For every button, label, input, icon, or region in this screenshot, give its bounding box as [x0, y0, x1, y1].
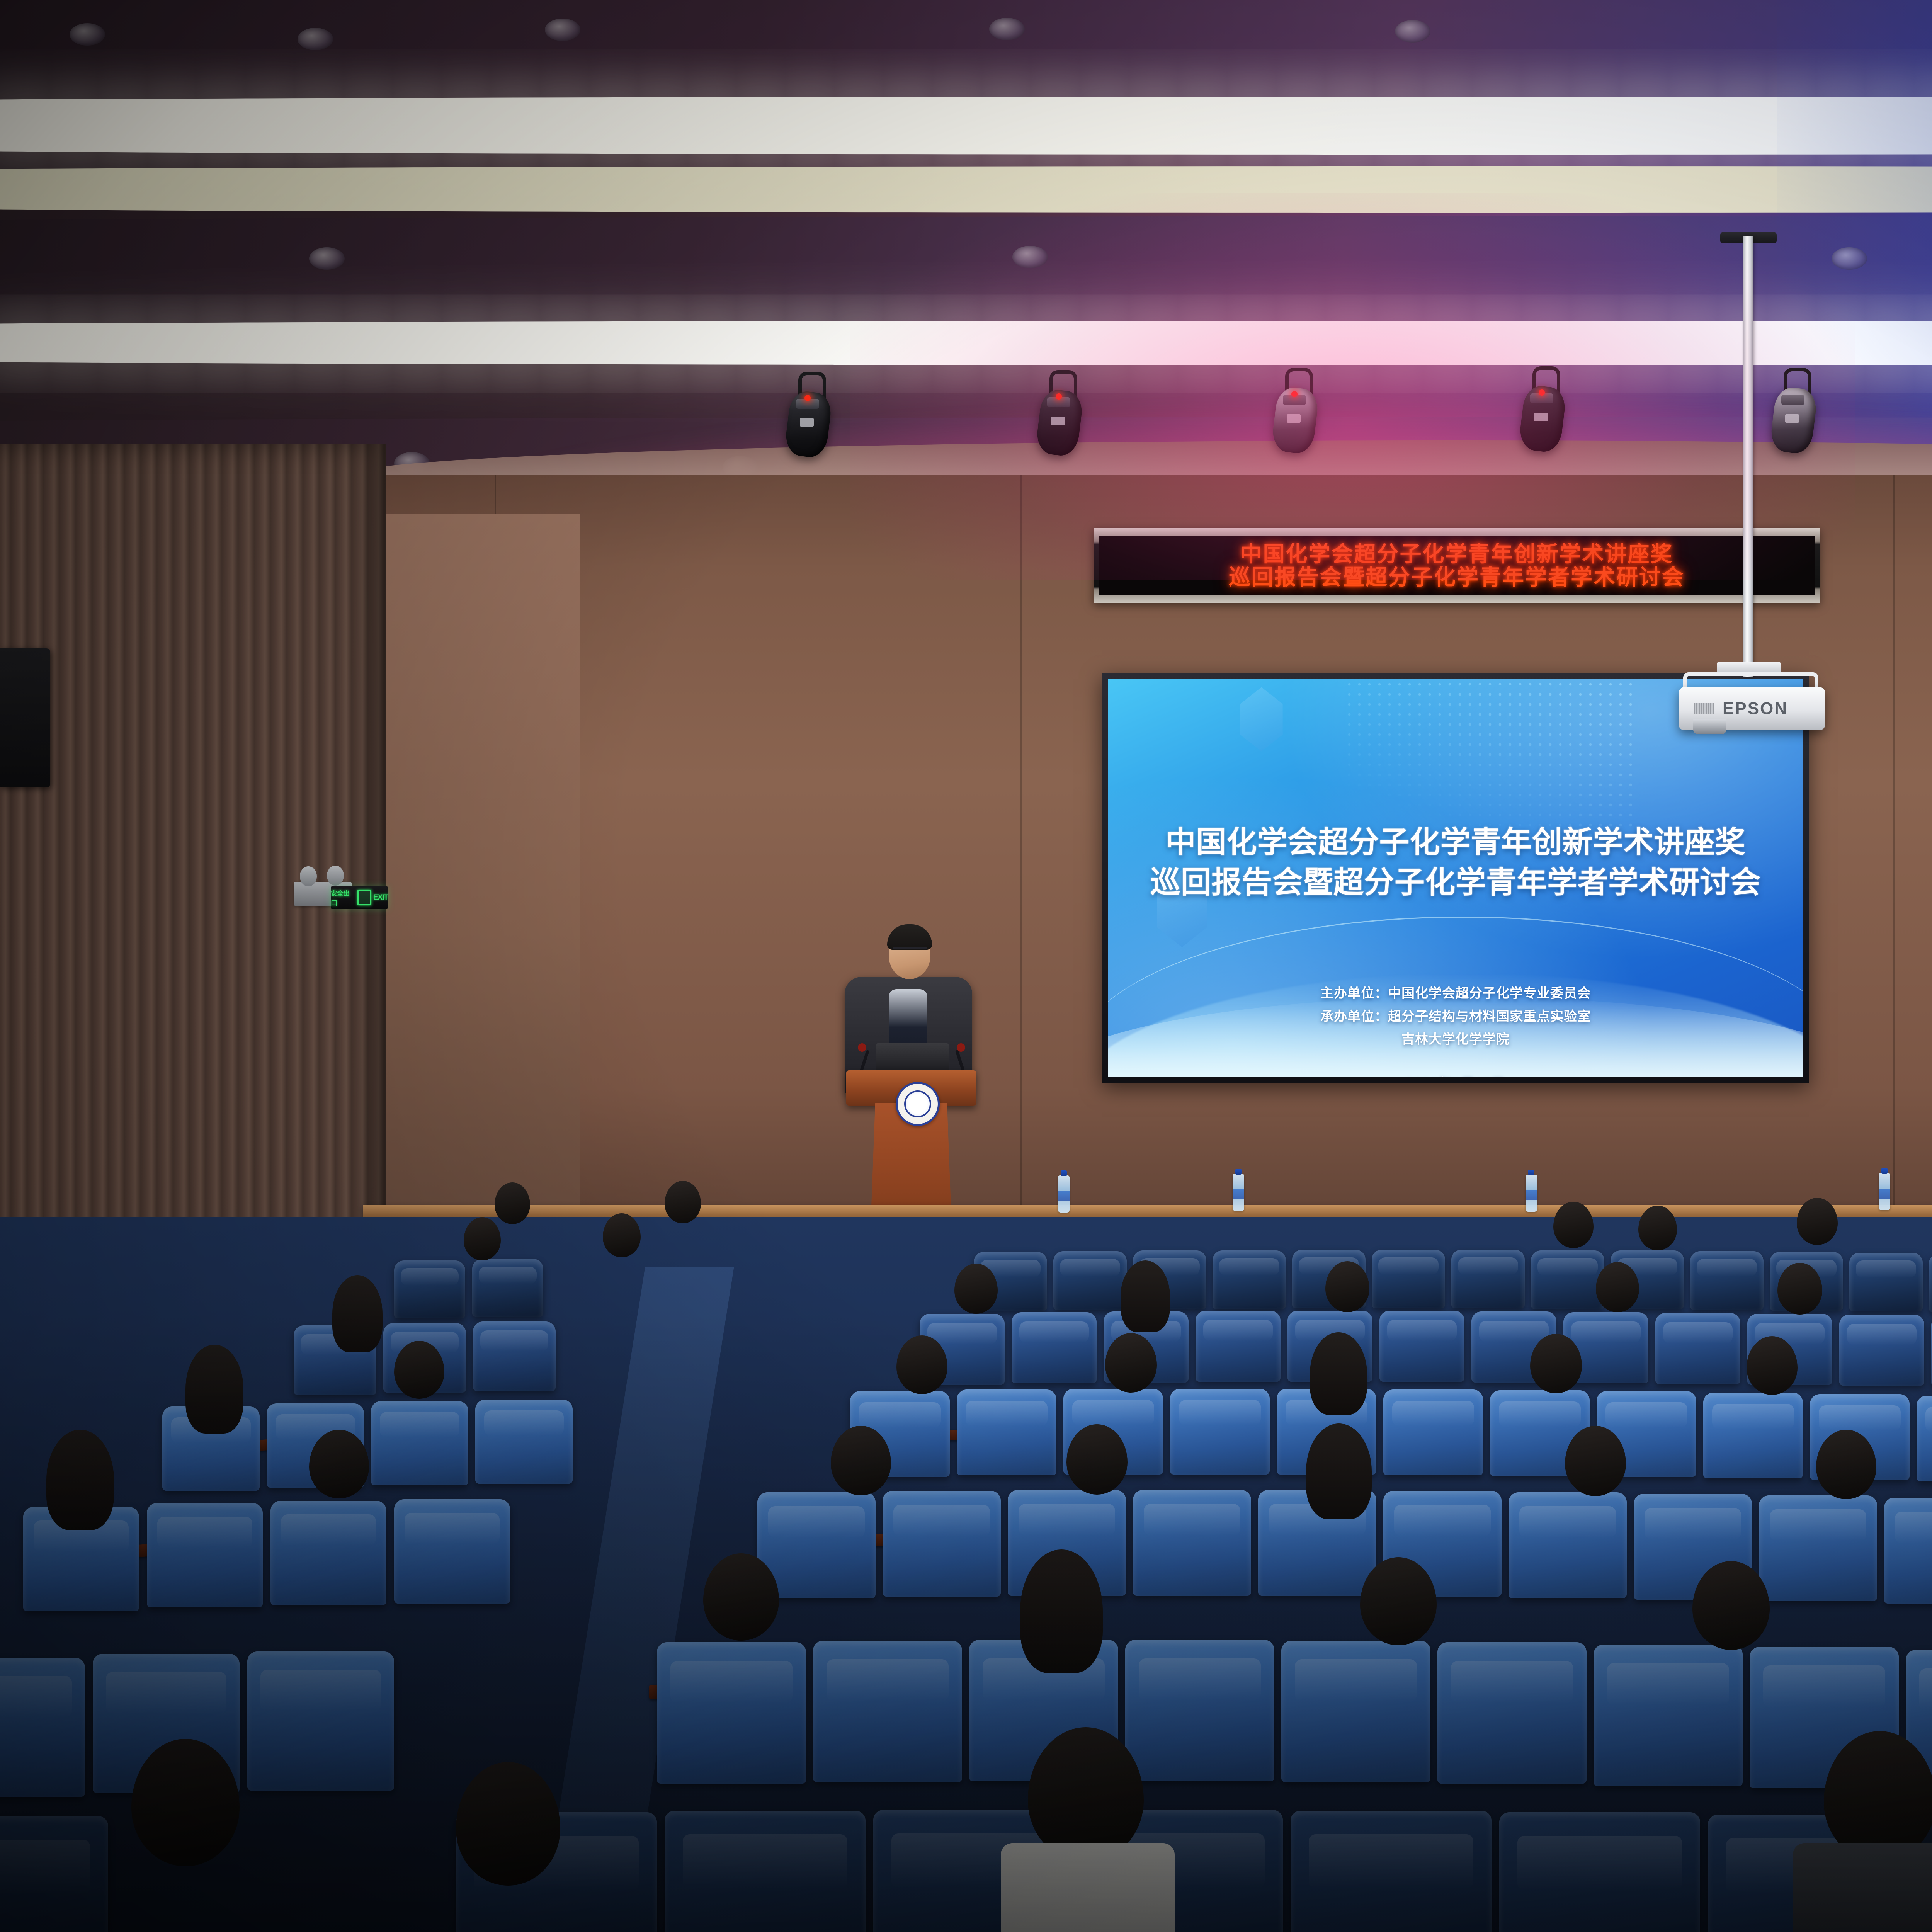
ceiling-downlight-icon — [1395, 20, 1430, 43]
seat[interactable] — [657, 1642, 806, 1784]
seat[interactable] — [1703, 1393, 1803, 1478]
seat[interactable] — [473, 1321, 556, 1391]
seat[interactable] — [1917, 1396, 1932, 1481]
ceiling-downlight-icon — [70, 23, 105, 46]
ceiling-downlight-icon — [309, 247, 345, 270]
running-man-icon — [357, 890, 371, 905]
seat[interactable] — [1372, 1250, 1445, 1308]
slide-organizer-line-1: 主办单位：中国化学会超分子化学专业委员会 — [1320, 982, 1591, 1005]
seat[interactable] — [147, 1503, 263, 1607]
seat[interactable] — [394, 1499, 510, 1604]
seat[interactable] — [0, 1658, 85, 1797]
lectern-laptop — [876, 1043, 949, 1073]
projected-slide: 中国化学会超分子化学青年创新学术讲座奖 巡回报告会暨超分子化学青年学者学术研讨会… — [1108, 679, 1803, 1077]
seat[interactable] — [371, 1401, 468, 1485]
led-banner-screen: 中国化学会超分子化学青年创新学术讲座奖 巡回报告会暨超分子化学青年学者学术研讨会 — [1099, 536, 1815, 595]
seat[interactable] — [1594, 1645, 1743, 1786]
seat[interactable] — [1196, 1311, 1281, 1382]
water-bottle — [1058, 1175, 1070, 1213]
led-banner: 中国化学会超分子化学青年创新学术讲座奖 巡回报告会暨超分子化学青年学者学术研讨会 — [1094, 528, 1820, 603]
microphone-head-icon — [957, 1043, 965, 1052]
ceiling-downlight-icon — [298, 28, 333, 50]
seat[interactable] — [957, 1389, 1056, 1475]
ceiling-downlight-icon — [989, 18, 1025, 40]
seat[interactable] — [1133, 1490, 1251, 1596]
ceiling-band-1 — [0, 0, 1932, 104]
conference-hall-photo: 安全出口 EXIT 中国化学会超分子化学青年创新学术讲座奖 巡回报告会暨超分子化… — [0, 0, 1932, 1932]
projector-vent-icon — [1694, 703, 1714, 714]
slide-title-line-1: 中国化学会超分子化学青年创新学术讲座奖 — [1165, 822, 1745, 862]
seat[interactable] — [394, 1260, 465, 1318]
ceiling-downlight-icon — [545, 19, 580, 41]
seat[interactable] — [1053, 1251, 1127, 1310]
seat[interactable] — [1849, 1253, 1923, 1311]
seat[interactable] — [1839, 1315, 1924, 1386]
seat[interactable] — [1213, 1250, 1286, 1309]
seat[interactable] — [475, 1400, 573, 1484]
ceiling-downlight-icon — [1012, 246, 1048, 268]
seat[interactable] — [1884, 1498, 1932, 1604]
seat[interactable] — [472, 1259, 543, 1317]
seat[interactable] — [1291, 1811, 1492, 1932]
seat[interactable] — [270, 1501, 386, 1605]
seat[interactable] — [1451, 1250, 1525, 1308]
seat[interactable] — [1531, 1250, 1604, 1309]
seat[interactable] — [0, 1816, 108, 1932]
seat[interactable] — [1383, 1389, 1483, 1475]
seat[interactable] — [813, 1641, 962, 1782]
ceiling-light-strip-1 — [0, 97, 1932, 155]
ceiling-band-2 — [0, 216, 1932, 332]
seat[interactable] — [1759, 1495, 1877, 1601]
projector-brand-label: EPSON — [1723, 699, 1788, 718]
seat[interactable] — [1929, 1253, 1932, 1312]
slide-text-block: 中国化学会超分子化学青年创新学术讲座奖 巡回报告会暨超分子化学青年学者学术研讨会… — [1108, 679, 1803, 1077]
projection-screen: 中国化学会超分子化学青年创新学术讲座奖 巡回报告会暨超分子化学青年学者学术研讨会… — [1102, 673, 1809, 1083]
exit-sign-chinese-label: 安全出口 — [331, 888, 355, 907]
water-bottle — [1526, 1175, 1537, 1212]
water-bottle — [1233, 1174, 1244, 1211]
seat[interactable] — [1125, 1640, 1274, 1781]
slide-date: 2024年1月17日 — [1406, 1072, 1505, 1077]
projector-lens-icon — [1693, 719, 1726, 734]
ceiling-downlight-icon — [1832, 247, 1867, 270]
led-banner-line-2: 巡回报告会暨超分子化学青年学者学术研讨会 — [1229, 566, 1685, 589]
seat[interactable] — [1437, 1642, 1587, 1784]
slide-organizer-line-2: 承办单位：超分子结构与材料国家重点实验室 — [1320, 1005, 1591, 1029]
seat[interactable] — [883, 1491, 1001, 1597]
wall-loudspeaker — [0, 648, 50, 787]
ceiling-light-strip-3 — [0, 321, 1932, 365]
seat[interactable] — [1170, 1389, 1270, 1475]
slide-title-line-2: 巡回报告会暨超分子化学青年学者学术研讨会 — [1150, 862, 1761, 903]
seat[interactable] — [1281, 1641, 1430, 1782]
projector-mount-pole — [1743, 236, 1753, 677]
seat[interactable] — [1499, 1812, 1700, 1932]
seat[interactable] — [1379, 1311, 1464, 1382]
slide-organizer-line-3: 吉林大学化学学院 — [1401, 1028, 1510, 1051]
led-banner-line-1: 中国化学会超分子化学青年创新学术讲座奖 — [1240, 543, 1673, 566]
seat[interactable] — [1655, 1313, 1740, 1384]
seat[interactable] — [1509, 1492, 1627, 1598]
exit-sign-english-label: EXIT — [373, 893, 388, 902]
speaker-glasses-icon — [893, 947, 927, 955]
microphone-head-icon — [858, 1043, 866, 1052]
university-emblem — [896, 1082, 940, 1126]
water-bottle — [1879, 1173, 1890, 1210]
exit-sign: 安全出口 EXIT — [331, 886, 388, 909]
left-stage-panel — [386, 514, 580, 1209]
ceiling-light-strip-2 — [0, 166, 1932, 213]
seat[interactable] — [247, 1651, 394, 1791]
seat[interactable] — [1012, 1312, 1097, 1383]
seat[interactable] — [665, 1811, 866, 1932]
seat[interactable] — [1690, 1251, 1764, 1310]
